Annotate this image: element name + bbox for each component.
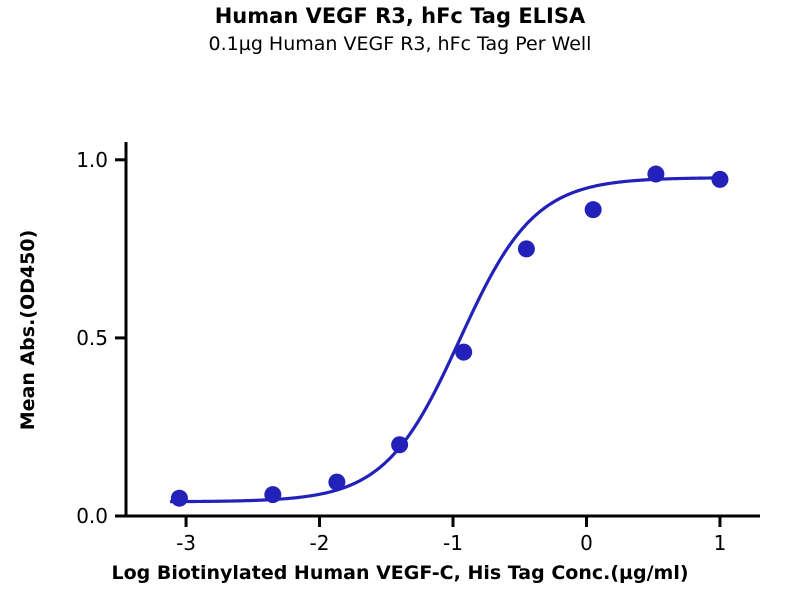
y-tick-label: 0.0	[76, 504, 108, 528]
chart-container: Human VEGF R3, hFc Tag ELISA 0.1µg Human…	[0, 0, 800, 600]
data-point	[328, 474, 345, 491]
fit-curve	[170, 178, 723, 502]
data-point	[647, 166, 664, 183]
data-point	[171, 490, 188, 507]
plot-area: 0.00.51.0-3-2-101	[0, 0, 800, 600]
y-tick-label: 1.0	[76, 148, 108, 172]
x-tick-label: 1	[714, 531, 727, 555]
y-tick-label: 0.5	[76, 326, 108, 350]
data-point	[585, 201, 602, 218]
data-point	[391, 436, 408, 453]
data-point	[264, 486, 281, 503]
data-point	[455, 344, 472, 361]
data-point	[711, 171, 728, 188]
data-point	[518, 240, 535, 257]
x-tick-label: -2	[310, 531, 330, 555]
x-tick-label: -3	[176, 531, 196, 555]
x-tick-label: -1	[443, 531, 463, 555]
x-tick-label: 0	[580, 531, 593, 555]
